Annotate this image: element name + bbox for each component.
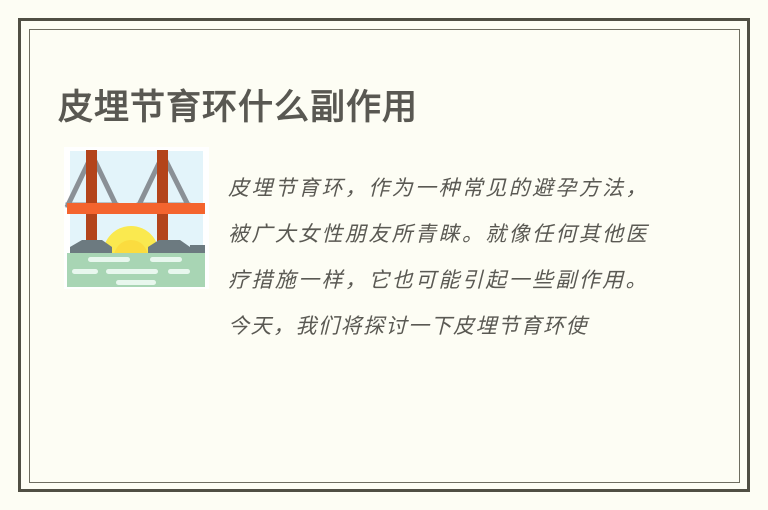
article-text: 皮埋节育环，作为一种常见的避孕方法，被广大女性朋友所青睐。就像任何其他医疗措施一… — [228, 165, 648, 349]
page-content: 皮埋节育环什么副作用 — [0, 0, 768, 510]
bridge-sunset-icon — [64, 147, 209, 289]
bridge-sunset-illustration — [64, 147, 209, 289]
article-page: 皮埋节育环什么副作用 — [0, 0, 768, 510]
page-title: 皮埋节育环什么副作用 — [58, 84, 418, 132]
